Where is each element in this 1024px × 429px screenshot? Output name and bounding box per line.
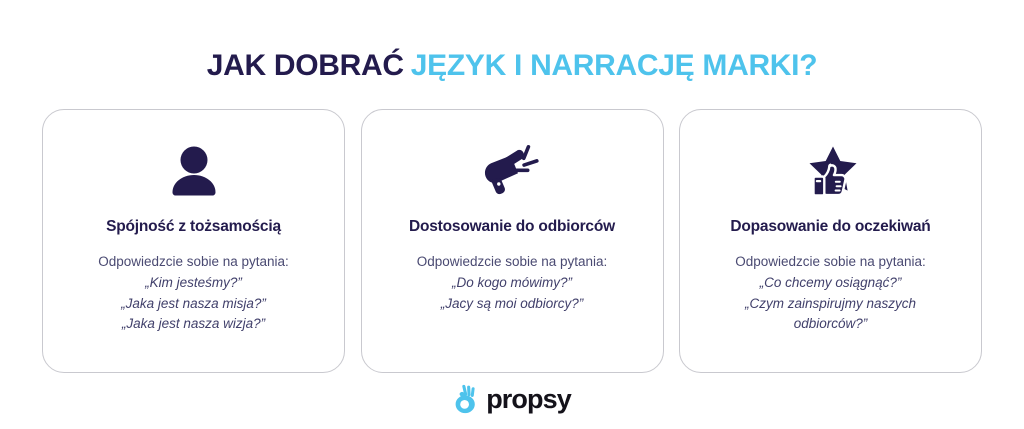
card-question-list: „Co chcemy osiągnąć?” „Czym zainspirujmy… <box>745 273 916 336</box>
card-question: „Jacy są moi odbiorcy?” <box>441 294 584 315</box>
brand-logo: propsy <box>0 384 1024 414</box>
page-title-dark-part: JAK DOBRAĆ <box>207 49 404 82</box>
card-question: „Jaka jest nasza wizja?” <box>121 314 266 335</box>
card-intro: Odpowiedzcie sobie na pytania: <box>417 252 608 273</box>
card-dostosowanie-do-odbiorcow: Dostosowanie do odbiorców Odpowiedzcie s… <box>361 109 664 373</box>
card-heading: Dopasowanie do oczekiwań <box>730 218 930 236</box>
card-question: „Do kogo mówimy?” <box>441 273 584 294</box>
card-row: Spójność z tożsamością Odpowiedzcie sobi… <box>42 109 982 373</box>
card-question: odbiorców?” <box>745 314 916 335</box>
card-dopasowanie-do-oczekiwan: Dopasowanie do oczekiwań Odpowiedzcie so… <box>679 109 982 373</box>
card-heading: Spójność z tożsamością <box>106 218 281 236</box>
infographic-root: JAK DOBRAĆJĘZYK I NARRACJĘ MARKI? Spójno… <box>0 20 1024 429</box>
card-intro: Odpowiedzcie sobie na pytania: <box>98 252 289 273</box>
star-thumbs-up-icon <box>800 132 862 214</box>
megaphone-icon <box>480 132 544 214</box>
card-question: „Kim jesteśmy?” <box>121 273 266 294</box>
card-intro: Odpowiedzcie sobie na pytania: <box>735 252 926 273</box>
card-question: „Czym zainspirujmy naszych <box>745 294 916 315</box>
card-question-list: „Do kogo mówimy?” „Jacy są moi odbiorcy?… <box>441 273 584 315</box>
page-title-accent-part: JĘZYK I NARRACJĘ MARKI? <box>411 49 817 82</box>
card-question: „Jaka jest nasza misja?” <box>121 294 266 315</box>
card-heading: Dostosowanie do odbiorców <box>409 218 615 236</box>
card-question-list: „Kim jesteśmy?” „Jaka jest nasza misja?”… <box>121 273 266 336</box>
card-spojnosc-z-tozsamoscia: Spójność z tożsamością Odpowiedzcie sobi… <box>42 109 345 373</box>
person-icon <box>164 132 224 214</box>
ok-hand-icon <box>453 384 479 414</box>
card-question: „Co chcemy osiągnąć?” <box>745 273 916 294</box>
page-title: JAK DOBRAĆJĘZYK I NARRACJĘ MARKI? <box>0 20 1024 81</box>
